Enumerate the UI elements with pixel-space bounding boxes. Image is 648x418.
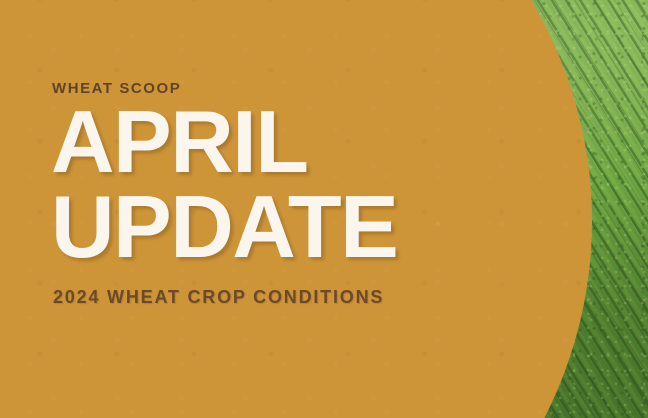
page-title-line-1: APRIL — [51, 104, 308, 180]
poster-subtitle: 2024 WHEAT CROP CONDITIONS — [53, 288, 384, 306]
wheat-scoop-april-update-poster: WHEAT SCOOP APRIL UPDATE 2024 WHEAT CROP… — [0, 0, 648, 418]
page-title-line-2: UPDATE — [51, 189, 397, 265]
poster-text-block: WHEAT SCOOP APRIL UPDATE 2024 WHEAT CROP… — [51, 0, 521, 418]
